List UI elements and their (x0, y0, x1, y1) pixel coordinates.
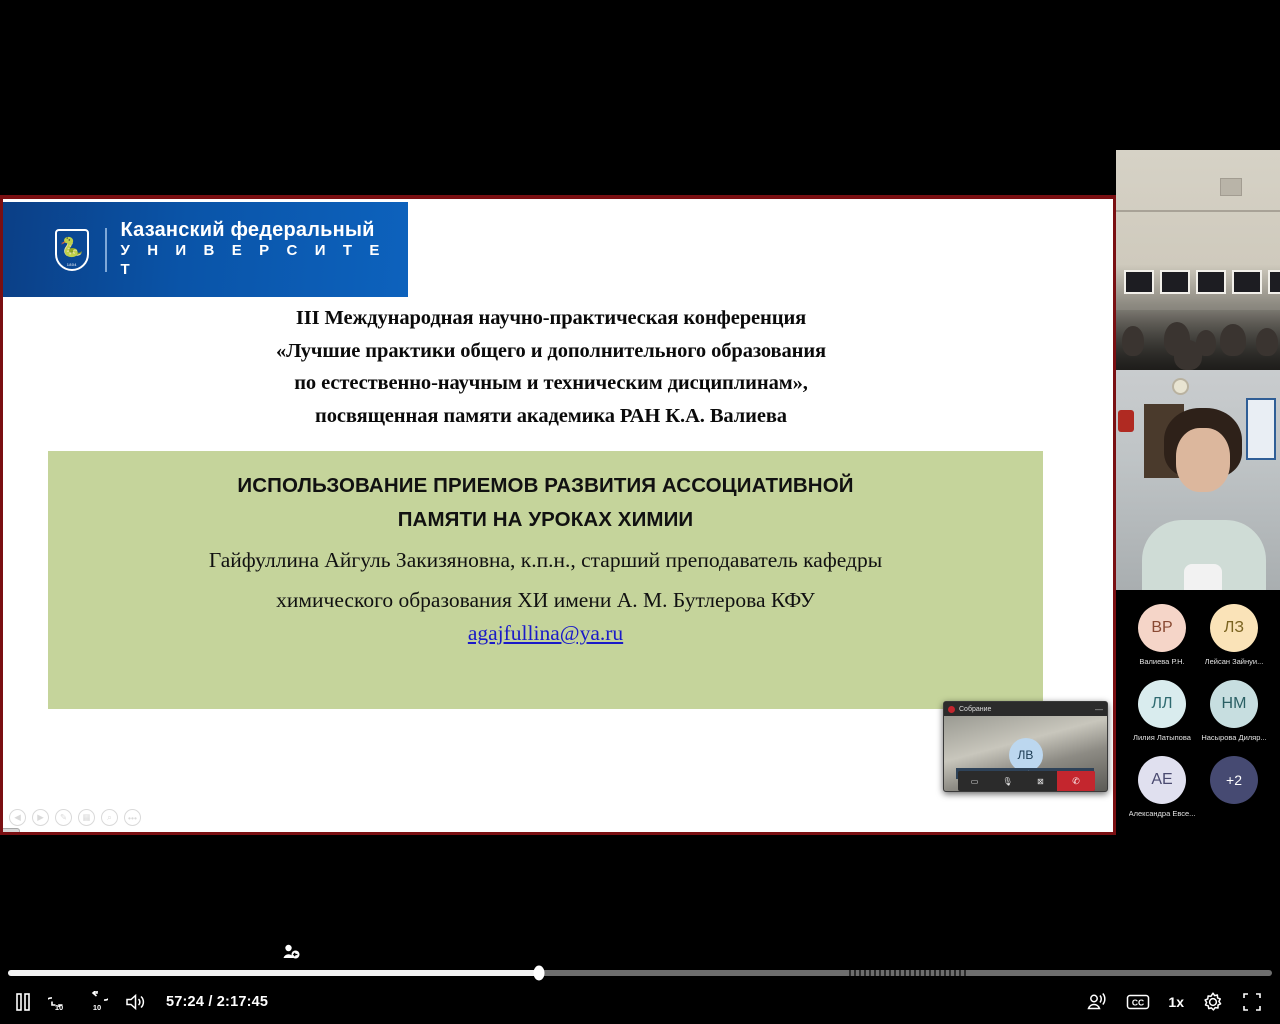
kfu-logo-banner: 🐍 1804 Казанский федеральный У Н И В Е Р… (3, 202, 408, 297)
chapter-ticks (849, 970, 966, 976)
pip-avatar: ЛВ (1009, 738, 1043, 772)
video-player-page: 🐍 1804 Казанский федеральный У Н И В Е Р… (0, 0, 1280, 1024)
playback-speed-button[interactable]: 1x (1168, 994, 1184, 1010)
avatar: ЛЗ (1210, 604, 1258, 652)
rewind-10-label: 10 (48, 1003, 70, 1012)
closed-captions-button[interactable]: CC (1126, 993, 1150, 1011)
kfu-shield-icon: 🐍 1804 (55, 229, 89, 271)
list-item[interactable]: АЕ Александра Евсе... (1126, 756, 1198, 818)
kfu-logo-line2: У Н И В Е Р С И Т Е Т (121, 242, 409, 280)
presentation-heading-line2: ПАМЯТИ НА УРОКАХ ХИМИИ (48, 503, 1043, 537)
progress-bar[interactable] (8, 970, 1272, 976)
next-slide-button[interactable]: ▶ (32, 809, 49, 826)
conference-title-line-2: «Лучшие практики общего и дополнительног… (131, 335, 971, 368)
forward-10-button[interactable]: 10 (86, 991, 108, 1013)
pip-window-title: Собрание (959, 706, 1091, 713)
presentation-heading-line1: ИСПОЛЬЗОВАНИЕ ПРИЕМОВ РАЗВИТИЯ АССОЦИАТИ… (48, 469, 1043, 503)
minimize-button[interactable]: — (1095, 705, 1103, 714)
svg-text:CC: CC (1132, 998, 1144, 1008)
participant-name: Александра Евсе... (1129, 809, 1196, 818)
list-item[interactable]: ЛЗ Лейсан Зайнуи... (1198, 604, 1270, 666)
recording-dot-icon (948, 706, 955, 713)
player-controls: 10 10 57:24 / 2:17:45 (0, 980, 1280, 1024)
presentation-content-panel: ИСПОЛЬЗОВАНИЕ ПРИЕМОВ РАЗВИТИЯ АССОЦИАТИ… (48, 451, 1043, 709)
video-tile-classroom[interactable] (1116, 150, 1280, 370)
conference-title: III Международная научно-практическая ко… (131, 302, 971, 432)
avatar: НМ (1210, 680, 1258, 728)
speaker-shirt (1184, 564, 1222, 590)
avatar: ЛЛ (1138, 680, 1186, 728)
player-controls-left: 10 10 57:24 / 2:17:45 (0, 991, 268, 1013)
participant-name: Валиева Р.Н. (1139, 657, 1184, 666)
more-participants-badge[interactable]: +2 (1210, 756, 1258, 804)
participants-sidebar: ВР Валиева Р.Н. ЛЗ Лейсан Зайнуи... ЛЛ Л… (1116, 150, 1280, 860)
video-tile-speaker[interactable] (1116, 370, 1280, 590)
wall-vent (1220, 178, 1242, 196)
list-item[interactable]: +2 (1198, 756, 1270, 818)
participant-grid: ВР Валиева Р.Н. ЛЗ Лейсан Зайнуи... ЛЛ Л… (1116, 590, 1280, 818)
participant-name: Насырова Диляр... (1201, 733, 1266, 742)
more-options-button[interactable]: ••• (124, 809, 141, 826)
settings-gear-button[interactable] (1202, 991, 1224, 1013)
author-email-link[interactable]: agajfullina@ya.ru (468, 621, 623, 645)
list-item[interactable]: ЛЛ Лилия Латыпова (1126, 680, 1198, 742)
conference-title-line-1: III Международная научно-практическая ко… (131, 302, 971, 335)
progress-fill (8, 970, 539, 976)
fire-extinguisher (1118, 410, 1134, 432)
kfu-logo-line1: Казанский федеральный (121, 219, 409, 242)
author-line-1: Гайфуллина Айгуль Закизяновна, к.п.н., с… (48, 544, 1043, 577)
shield-year-label: 1804 (57, 262, 87, 267)
wall-notice-board (1246, 398, 1276, 460)
wall-photo-frames (1124, 270, 1280, 294)
list-item[interactable]: НМ Насырова Диляр... (1198, 680, 1270, 742)
logo-divider (105, 228, 107, 272)
progress-handle[interactable] (533, 966, 544, 981)
wall-clock (1172, 378, 1189, 395)
kfu-logo-text: Казанский федеральный У Н И В Е Р С И Т … (121, 219, 409, 280)
zoom-slide-button[interactable]: ⌕ (101, 809, 118, 826)
pause-button[interactable] (14, 992, 32, 1012)
participant-name: Лейсан Зайнуи... (1205, 657, 1264, 666)
conference-title-line-4: посвященная памяти академика РАН К.А. Ва… (131, 400, 971, 433)
author-email-wrap: agajfullina@ya.ru (48, 621, 1043, 646)
share-screen-button[interactable]: ⊠ (1024, 777, 1057, 786)
wall-rail (1116, 210, 1280, 212)
avatar: АЕ (1138, 756, 1186, 804)
volume-button[interactable] (124, 992, 146, 1012)
microphone-toggle-button[interactable]: 🎙 (991, 777, 1024, 786)
hang-up-button[interactable]: ✆ (1057, 771, 1095, 791)
pip-title-bar: Собрание — (944, 702, 1107, 716)
all-slides-button[interactable]: ▦ (78, 809, 95, 826)
pip-video-stage: ЛВ Используется: Микрофон и динамики ПК … (944, 716, 1107, 792)
player-controls-right: CC 1x (1086, 991, 1280, 1013)
expand-panel-handle[interactable]: ▸▸ (3, 828, 20, 832)
audio-description-button[interactable] (1086, 992, 1108, 1012)
avatar: ВР (1138, 604, 1186, 652)
speaker-change-icon[interactable] (281, 942, 301, 962)
speaker-face (1176, 428, 1230, 492)
pen-tool-button[interactable]: ✎ (55, 809, 72, 826)
author-line-2: химического образования ХИ имени А. М. Б… (48, 584, 1043, 617)
camera-toggle-button[interactable]: ▭ (958, 777, 991, 786)
rewind-10-button[interactable]: 10 (48, 991, 70, 1013)
meeting-pip-window[interactable]: Собрание — ЛВ Используется: Микрофон и д… (943, 701, 1108, 792)
time-display: 57:24 / 2:17:45 (166, 994, 268, 1010)
conference-title-line-3: по естественно-научным и техническим дис… (131, 367, 971, 400)
pip-control-bar: ▭ 🎙 ⊠ ✆ (958, 771, 1095, 791)
fullscreen-button[interactable] (1242, 992, 1262, 1012)
forward-10-label: 10 (86, 1003, 108, 1012)
participant-name: Лилия Латыпова (1133, 733, 1191, 742)
prev-slide-button[interactable]: ◀ (9, 809, 26, 826)
presenter-toolbar: ◀ ▶ ✎ ▦ ⌕ ••• (9, 809, 141, 826)
list-item[interactable]: ВР Валиева Р.Н. (1126, 604, 1198, 666)
